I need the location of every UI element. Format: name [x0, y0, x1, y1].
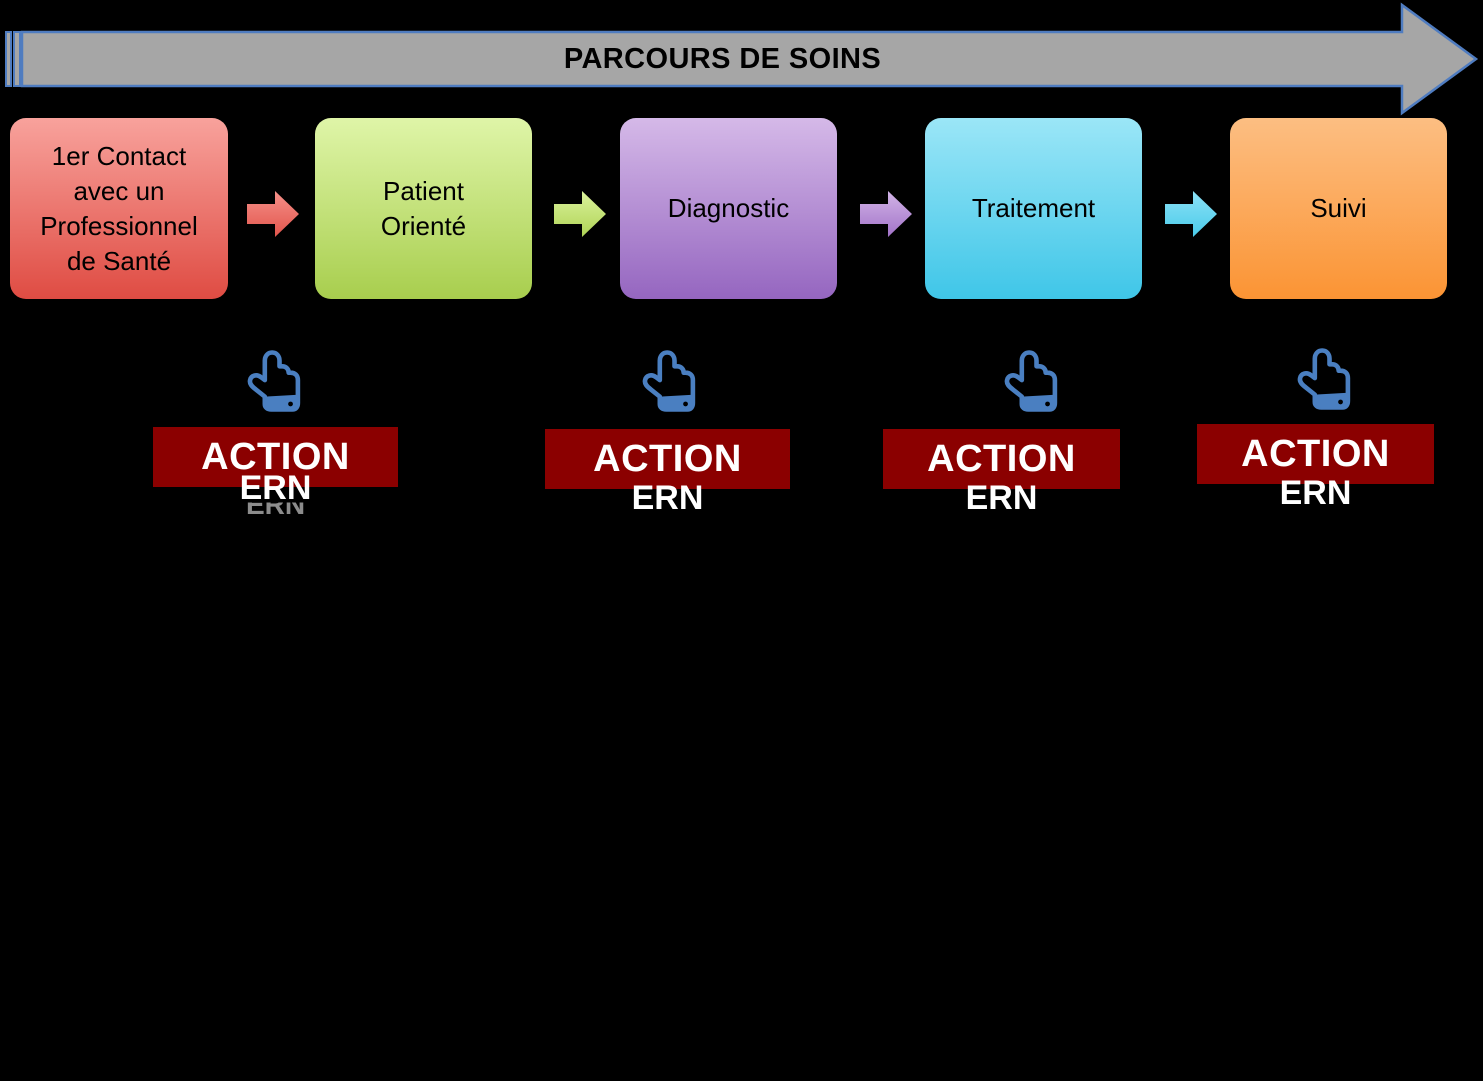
stage-label: Suivi: [1310, 191, 1366, 226]
parcours-de-soins-arrow: PARCOURS DE SOINS: [0, 0, 1483, 120]
action-sub-label: ERN: [153, 471, 398, 505]
stage-label: Diagnostic: [668, 191, 789, 226]
connector-arrow-2: [552, 188, 608, 240]
connector-arrow-1: [245, 188, 301, 240]
action-sub-label: ERN: [545, 481, 790, 515]
diagram-canvas: PARCOURS DE SOINS 1er Contactavec unProf…: [0, 0, 1483, 1081]
pointing-hand-icon: [243, 347, 305, 415]
connector-arrow-4: [1163, 188, 1219, 240]
action-banner-label: ACTION: [593, 438, 742, 481]
stage-box-diagnostic[interactable]: Diagnostic: [620, 118, 837, 299]
stage-label: Traitement: [972, 191, 1095, 226]
action-banner-label: ACTION: [1241, 433, 1390, 476]
action-group-suivi[interactable]: ACTION ERN: [1197, 424, 1434, 484]
stage-box-patient-oriente[interactable]: PatientOrienté: [315, 118, 532, 299]
action-group-diagnostic[interactable]: ACTION ERN: [545, 429, 790, 489]
arrow-tail-line-1: [6, 32, 11, 86]
stage-label: PatientOrienté: [381, 174, 466, 244]
action-sub-label: ERN: [883, 481, 1120, 515]
stage-box-suivi[interactable]: Suivi: [1230, 118, 1447, 299]
arrow-tail-line-2: [14, 32, 20, 86]
arrow-body-and-head: [22, 5, 1476, 113]
action-sub-label: ERN: [1197, 476, 1434, 510]
pointing-hand-icon: [1000, 347, 1062, 415]
stage-label: 1er Contactavec unProfessionnelde Santé: [40, 139, 198, 279]
action-group-traitement[interactable]: ACTION ERN: [883, 429, 1120, 489]
pointing-hand-icon: [638, 347, 700, 415]
stage-box-premier-contact[interactable]: 1er Contactavec unProfessionnelde Santé: [10, 118, 228, 299]
pointing-hand-icon: [1293, 345, 1355, 413]
action-banner-label: ACTION: [927, 438, 1076, 481]
connector-arrow-3: [858, 188, 914, 240]
action-group-patient-oriente[interactable]: ACTION ERN ERN: [153, 427, 398, 487]
stage-box-traitement[interactable]: Traitement: [925, 118, 1142, 299]
